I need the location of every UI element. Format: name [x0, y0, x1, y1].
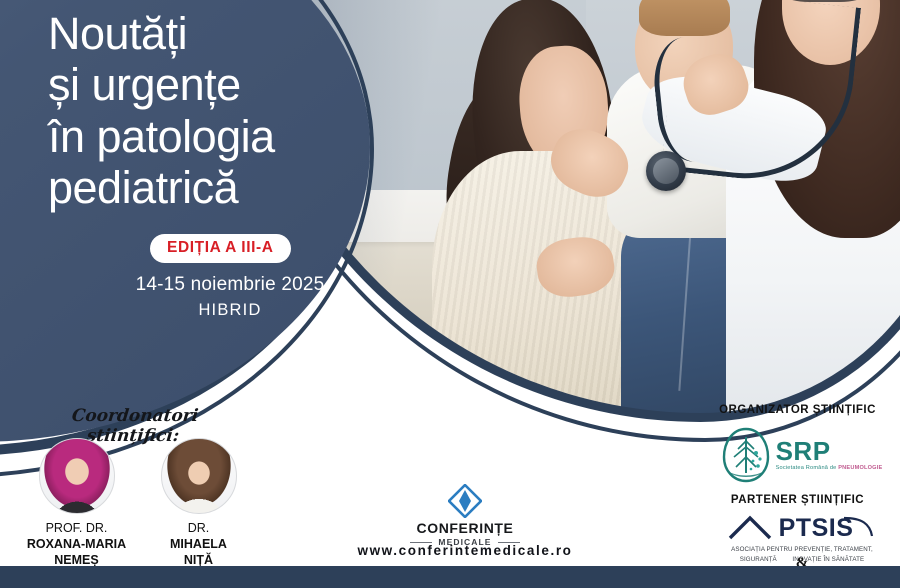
- website-url[interactable]: www.conferintemedicale.ro: [315, 543, 615, 558]
- title-line-1: Noutăți: [48, 8, 378, 59]
- coordinator-item: DR. MIHAELA NIȚĂ: [149, 438, 249, 568]
- ptsis-tagline-left: SIGURANȚĂ: [740, 556, 777, 563]
- srp-full-name-b: PNEUMOLOGIE: [838, 465, 882, 471]
- title-line-2: și urgențe: [48, 59, 378, 110]
- srp-acronym: SRP: [776, 438, 883, 464]
- organizer-logo: SRP Societatea Română de PNEUMOLOGIE: [716, 424, 886, 486]
- conference-banner: Noutăți și urgențe în patologia pediatri…: [0, 0, 900, 588]
- title-line-4: pediatrică: [48, 162, 378, 213]
- event-format: HIBRID: [120, 301, 340, 320]
- edition-badge: EDIȚIA A III-A: [150, 234, 291, 263]
- partner-logo: PTSIS ASOCIAȚIA PENTRU PREVENȚIE, TRATAM…: [716, 512, 888, 564]
- partner-label: PARTENER ȘTIINȚIFIC: [700, 494, 895, 506]
- coordinator-rank: DR.: [149, 520, 249, 536]
- srp-wordmark: SRP Societatea Română de PNEUMOLOGIE: [776, 438, 883, 472]
- avatar: [39, 438, 115, 514]
- srp-full-name-a: Societatea Română de: [776, 465, 839, 471]
- bottom-accent-bar: [0, 566, 900, 588]
- coordinator-first-name: ROXANA-MARIA: [27, 536, 127, 552]
- srp-tree-icon: [720, 427, 772, 483]
- srp-full-name: Societatea Română de PNEUMOLOGIE: [776, 466, 883, 472]
- ptsis-wordmark: PTSIS: [716, 512, 888, 544]
- event-dates: 14-15 noiembrie 2025: [120, 274, 340, 296]
- brand-name: CONFERINȚE: [375, 520, 555, 536]
- page-title: Noutăți și urgențe în patologia pediatri…: [48, 8, 378, 213]
- ptsis-acronym: PTSIS: [779, 514, 854, 543]
- coordinator-item: PROF. DR. ROXANA-MARIA NEMEȘ: [27, 438, 127, 568]
- ptsis-tagline: ASOCIAȚIA PENTRU PREVENȚIE, TRATAMENT, S…: [716, 545, 888, 564]
- coordinators-list: PROF. DR. ROXANA-MARIA NEMEȘ DR. MIHAELA…: [10, 438, 265, 568]
- brand-logo: CONFERINȚE MEDICALE: [375, 484, 555, 547]
- organizer-label: ORGANIZATOR ȘTIINȚIFIC: [700, 404, 895, 416]
- diamond-star-icon: [448, 484, 482, 518]
- coordinator-first-name: MIHAELA: [149, 536, 249, 552]
- avatar: [161, 438, 237, 514]
- title-line-3: în patologia: [48, 111, 378, 162]
- coordinator-rank: PROF. DR.: [27, 520, 127, 536]
